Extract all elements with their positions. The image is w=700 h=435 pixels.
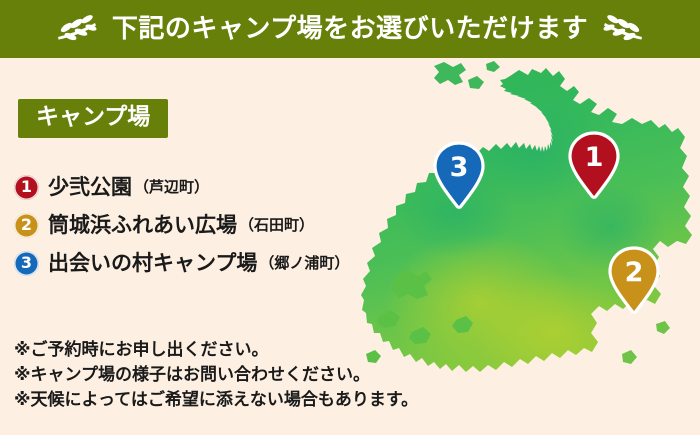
map-pin-3-number: 3 — [450, 152, 469, 183]
list-marker-1: 1 — [14, 175, 39, 200]
info-panel: キャンプ場 1 少弐公園 （芦辺町） 2 筒城浜ふれあい広場 （石田町） 3 出… — [0, 58, 440, 435]
map-pin-1[interactable]: 1 — [566, 130, 622, 200]
note-line-2: ※キャンプ場の様子はお問い合わせください。 — [14, 363, 494, 388]
note-line-3: ※天候によってはご希望に添えない場合もあります。 — [14, 388, 494, 413]
notes-block: ※ご予約時にお申し出ください。 ※キャンプ場の様子はお問い合わせください。 ※天… — [14, 338, 494, 413]
page-title: 下記のキャンプ場をお選びいただけます — [112, 16, 588, 42]
note-line-1: ※ご予約時にお申し出ください。 — [14, 338, 494, 363]
campsite-town: （芦辺町） — [134, 180, 209, 195]
list-item[interactable]: 1 少弐公園 （芦辺町） — [14, 168, 434, 206]
header-banner: 下記のキャンプ場をお選びいただけます — [0, 0, 700, 58]
campsite-info-card: 下記のキャンプ場をお選びいただけます — [0, 0, 700, 435]
map-pin-2[interactable]: 2 — [606, 245, 662, 315]
map-islet-group — [434, 61, 500, 89]
campsite-list: 1 少弐公園 （芦辺町） 2 筒城浜ふれあい広場 （石田町） 3 出会いの村キャ… — [14, 168, 434, 282]
campsite-name: 少弐公園 — [48, 177, 132, 198]
list-item[interactable]: 2 筒城浜ふれあい広場 （石田町） — [14, 206, 434, 244]
leaf-branch-icon — [602, 14, 644, 44]
list-item[interactable]: 3 出会いの村キャンプ場 （郷ノ浦町） — [14, 244, 434, 282]
map-east-islets — [622, 321, 670, 364]
list-marker-3: 3 — [14, 251, 39, 276]
map-pin-2-number: 2 — [625, 257, 644, 288]
campsite-town: （石田町） — [239, 218, 314, 233]
list-marker-2: 2 — [14, 213, 39, 238]
campsite-name: 出会いの村キャンプ場 — [48, 253, 257, 274]
leaf-branch-icon — [56, 14, 98, 44]
campsite-town: （郷ノ浦町） — [259, 256, 349, 271]
campsite-name: 筒城浜ふれあい広場 — [48, 215, 237, 236]
section-badge: キャンプ場 — [18, 99, 168, 138]
map-pin-1-number: 1 — [585, 142, 604, 173]
